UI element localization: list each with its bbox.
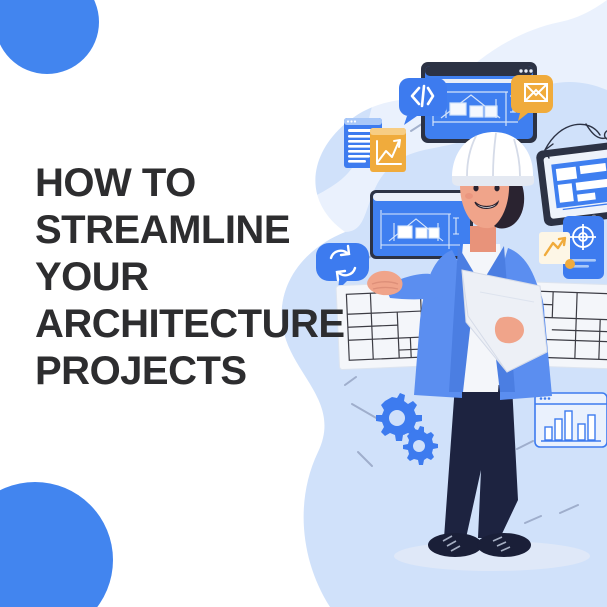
headline-line-4: ARCHITECTURE	[35, 301, 335, 348]
browser-window-house-elevation	[370, 190, 473, 259]
cream-image-card	[539, 232, 575, 269]
image-chart-card	[370, 128, 406, 172]
headline-line-2: STREAMLINE	[35, 207, 335, 254]
character-neck	[470, 226, 496, 252]
shoe-left	[428, 533, 482, 557]
bar-chart-window	[535, 393, 607, 447]
shoe-right	[477, 533, 531, 557]
headline-line-1: HOW TO	[35, 160, 335, 207]
headline-line-3: YOUR	[35, 254, 335, 301]
page-title: HOW TO STREAMLINE YOUR ARCHITECTURE PROJ…	[35, 160, 335, 395]
poster-canvas: HOW TO STREAMLINE YOUR ARCHITECTURE PROJ…	[0, 0, 607, 607]
character-trousers	[444, 385, 518, 538]
headline-line-5: PROJECTS	[35, 348, 335, 395]
